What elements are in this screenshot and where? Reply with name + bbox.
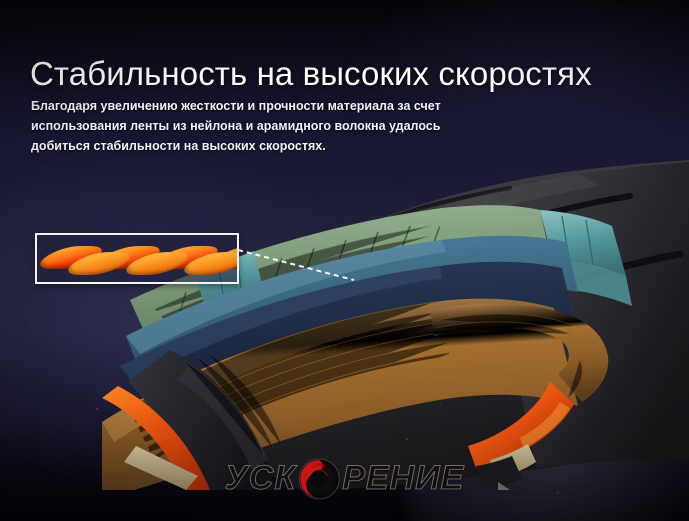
brand-logo-text-after: РЕНИЕ <box>342 459 464 498</box>
brand-logo-text-before: УСК <box>225 459 296 498</box>
brand-logo-text: УСК <box>225 457 465 499</box>
slide-canvas: Стабильность на высоких скоростях Благод… <box>0 0 689 521</box>
vignette-overlay <box>0 0 689 521</box>
swirl-icon <box>298 458 340 500</box>
brand-logo: УСК <box>0 451 689 511</box>
